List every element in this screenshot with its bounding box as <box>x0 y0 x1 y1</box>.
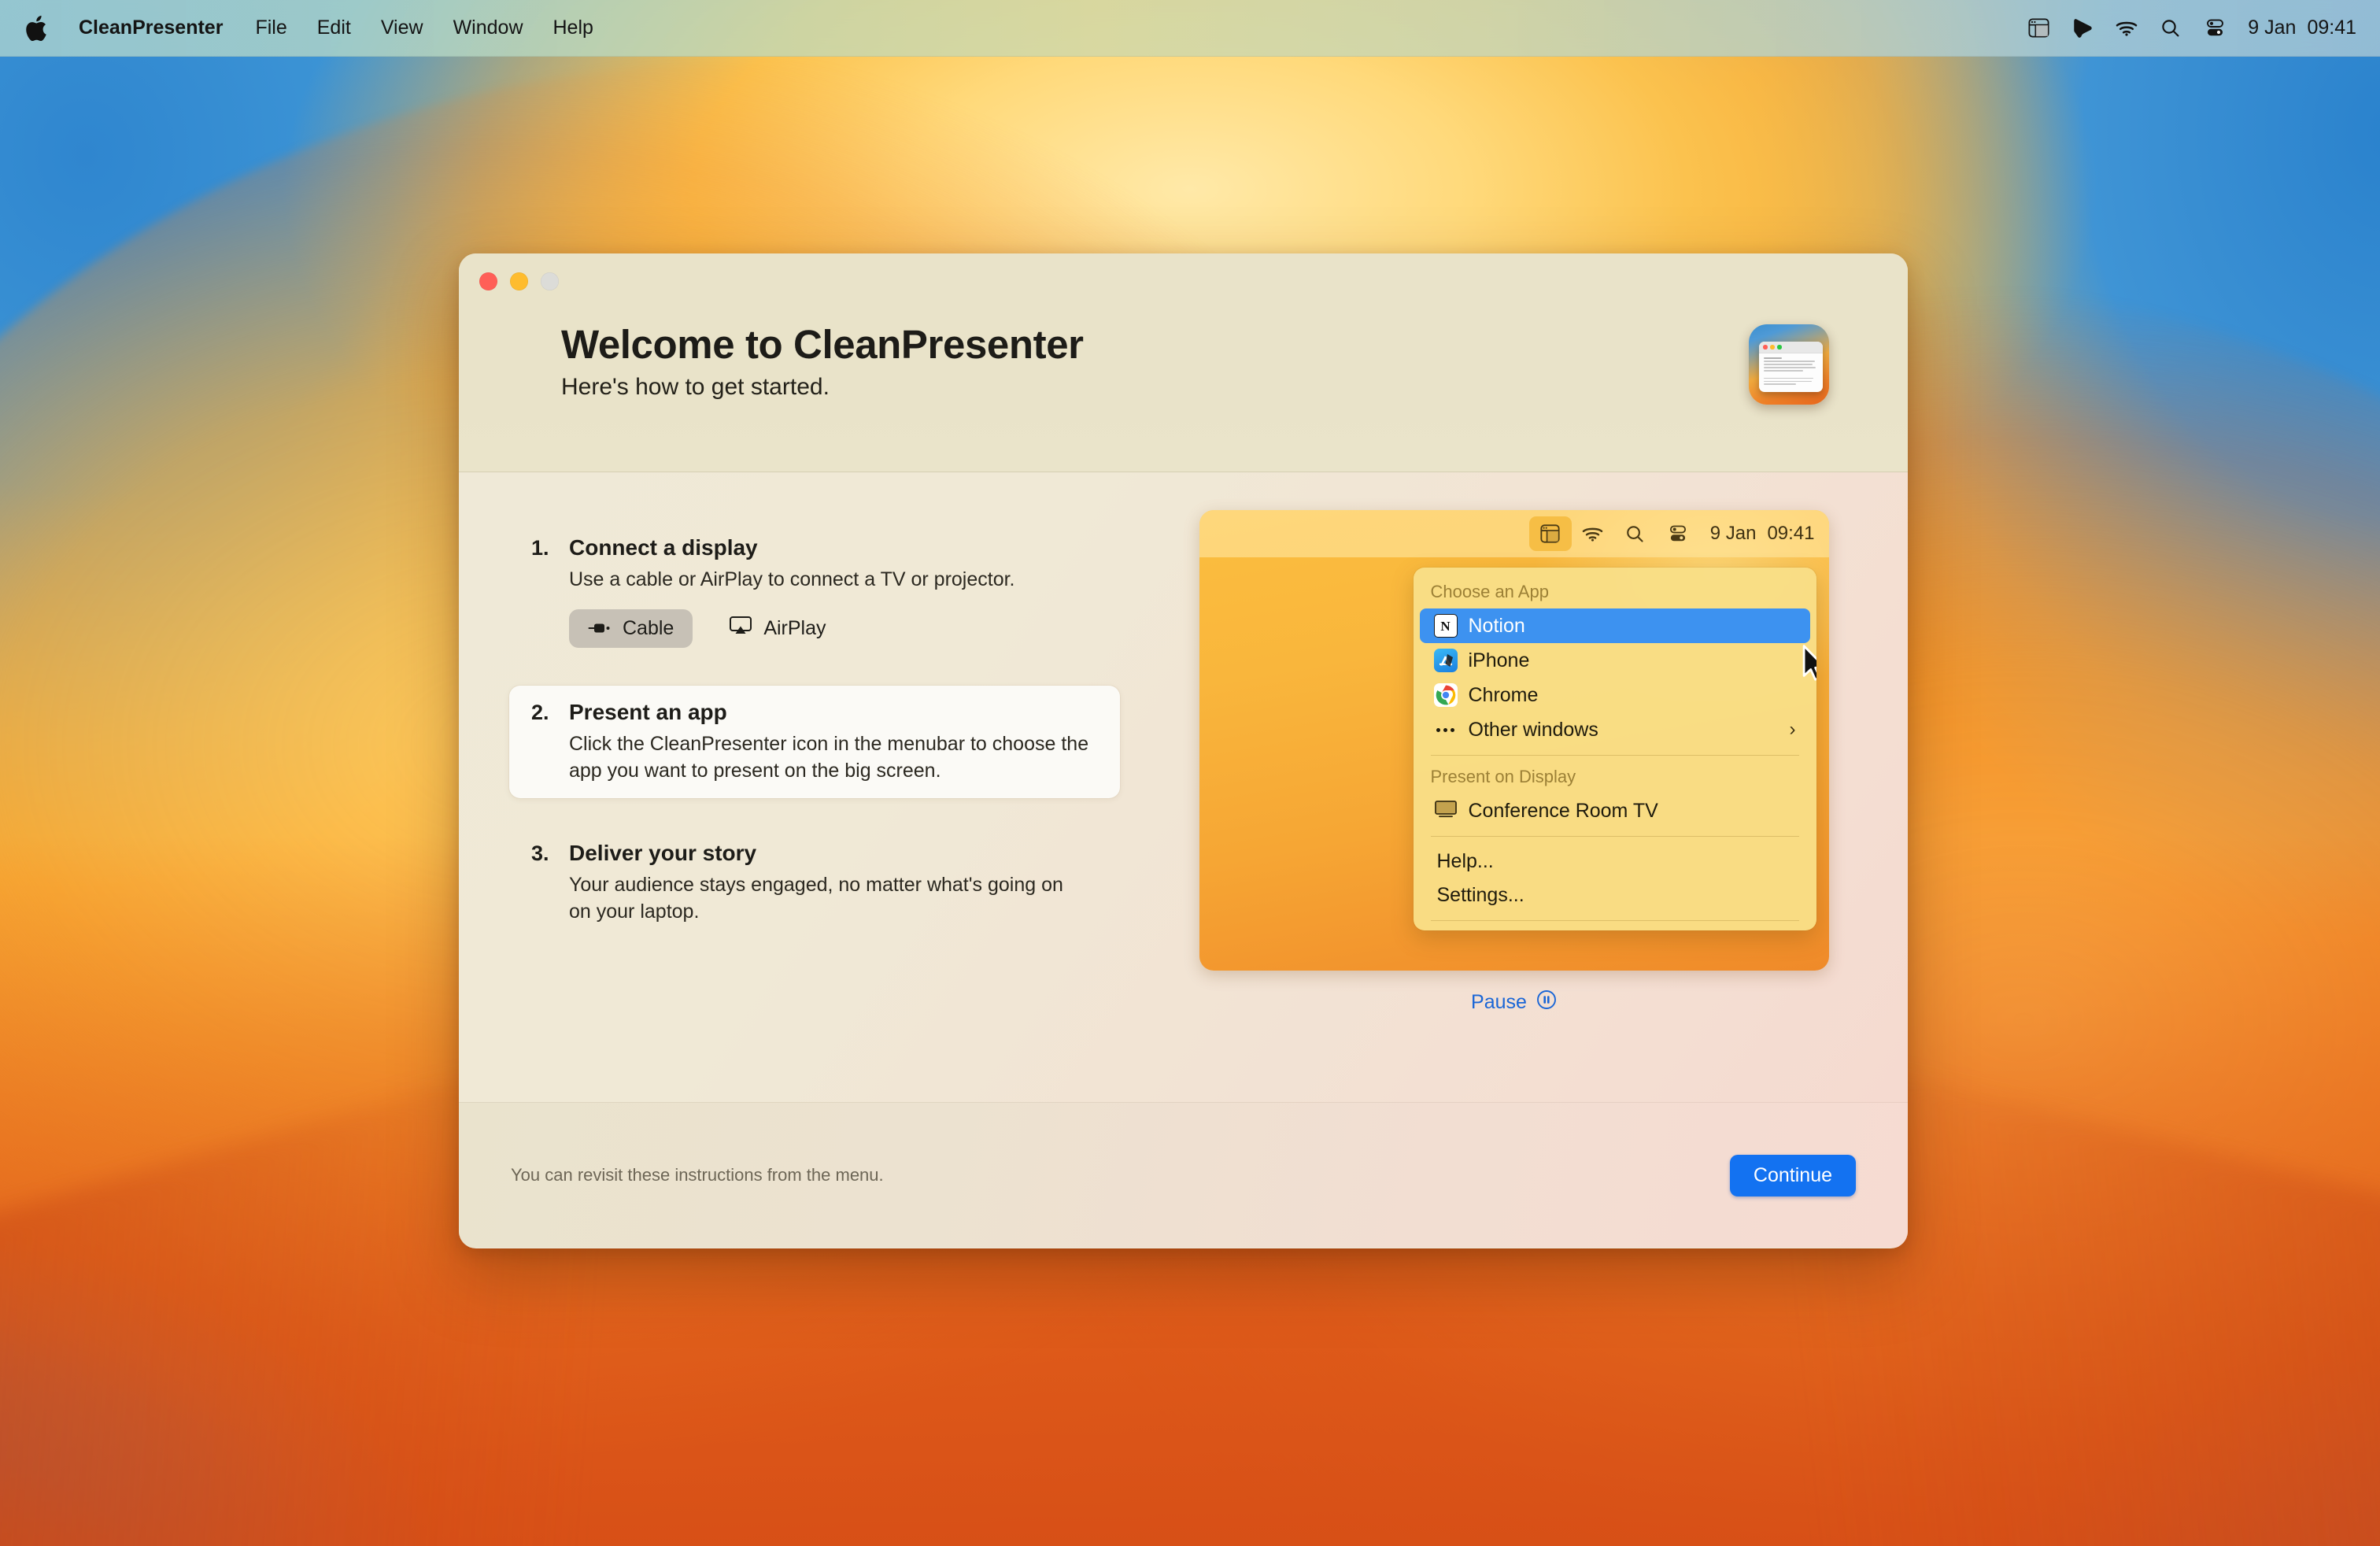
window-body: 1. Connect a display Use a cable or AirP… <box>459 472 1908 1102</box>
pause-button[interactable]: Pause <box>1471 989 1557 1015</box>
menu-item-conference-room-tv-label: Conference Room TV <box>1469 800 1658 823</box>
step-1-number: 1. <box>531 536 558 560</box>
demo-time: 09:41 <box>1767 523 1814 545</box>
menu-item-help[interactable]: Help... <box>1420 845 1810 878</box>
menu-bar-left: CleanPresenter File Edit View Window Hel… <box>0 13 608 43</box>
menu-edit[interactable]: Edit <box>302 13 366 43</box>
menu-bar: CleanPresenter File Edit View Window Hel… <box>0 0 2380 57</box>
chrome-icon <box>1434 683 1458 707</box>
menu-window[interactable]: Window <box>438 13 538 43</box>
step-3-title: Deliver your story <box>569 841 756 866</box>
minimize-button[interactable] <box>510 272 528 290</box>
window-header: Welcome to CleanPresenter Here's how to … <box>459 253 1908 472</box>
window-footer: You can revisit these instructions from … <box>459 1102 1908 1248</box>
menu-item-iphone-label: iPhone <box>1469 649 1530 672</box>
cleanpresenter-app-icon <box>1749 324 1829 405</box>
menu-bar-time: 09:41 <box>2307 17 2356 39</box>
menu-item-settings[interactable]: Settings... <box>1420 878 1810 912</box>
menu-bar-clock[interactable]: 9 Jan 09:41 <box>2248 17 2356 39</box>
menu-help[interactable]: Help <box>538 13 608 43</box>
cable-option[interactable]: Cable <box>569 609 693 648</box>
step-2-description: Click the CleanPresenter icon in the men… <box>569 731 1101 785</box>
pause-label: Pause <box>1471 991 1527 1014</box>
screen: CleanPresenter File Edit View Window Hel… <box>0 0 2380 1546</box>
welcome-window: Welcome to CleanPresenter Here's how to … <box>459 253 1908 1248</box>
wifi-icon[interactable] <box>2105 11 2149 46</box>
demo-animation-panel: 9 Jan 09:41 Choose an App N Notion <box>1199 510 1829 971</box>
demo-menu-bar: 9 Jan 09:41 <box>1199 510 1829 557</box>
step-2-title: Present an app <box>569 700 727 725</box>
airplay-icon <box>729 616 752 642</box>
demo-panel-wrapper: 9 Jan 09:41 Choose an App N Notion <box>1120 472 1908 1102</box>
presenter-window-icon[interactable] <box>2016 11 2060 46</box>
menu-item-notion[interactable]: N Notion <box>1420 608 1810 643</box>
menu-section-choose-an-app: Choose an App <box>1414 579 1816 608</box>
display-mode-segmented-control: Cable AirPlay <box>569 608 1101 649</box>
airplay-option-label: AirPlay <box>763 617 826 640</box>
tv-display-icon <box>1434 799 1458 823</box>
menu-item-chrome[interactable]: Chrome <box>1420 678 1810 712</box>
menu-item-other-windows-label: Other windows <box>1469 719 1598 742</box>
menu-file[interactable]: File <box>240 13 301 43</box>
continue-button[interactable]: Continue <box>1730 1155 1856 1196</box>
menu-bar-date: 9 Jan <box>2248 17 2296 39</box>
cable-plug-icon <box>588 617 612 640</box>
notion-icon: N <box>1434 614 1458 638</box>
control-center-icon[interactable] <box>2193 11 2237 46</box>
menu-separator-2 <box>1431 836 1799 837</box>
cable-option-label: Cable <box>623 617 674 640</box>
menu-app-name[interactable]: CleanPresenter <box>72 13 240 43</box>
zoom-button[interactable] <box>541 272 559 290</box>
demo-control-center-icon[interactable] <box>1657 516 1699 551</box>
step-3-deliver-your-story: 3. Deliver your story Your audience stay… <box>509 827 1120 940</box>
close-button[interactable] <box>479 272 497 290</box>
demo-clock: 9 Jan 09:41 <box>1710 523 1815 545</box>
demo-wifi-icon[interactable] <box>1572 516 1614 551</box>
header-text: Welcome to CleanPresenter Here's how to … <box>561 321 1084 401</box>
step-1-title: Connect a display <box>569 535 758 560</box>
apple-logo-icon[interactable] <box>24 13 72 43</box>
page-subtitle: Here's how to get started. <box>561 374 1084 401</box>
page-title: Welcome to CleanPresenter <box>561 321 1084 368</box>
footer-note: You can revisit these instructions from … <box>511 1165 884 1185</box>
step-2-number: 2. <box>531 701 558 725</box>
menu-item-other-windows[interactable]: Other windows › <box>1420 712 1810 747</box>
chevron-right-icon: › <box>1790 720 1796 739</box>
menu-item-help-label: Help... <box>1437 850 1494 873</box>
menu-section-present-on-display: Present on Display <box>1414 764 1816 793</box>
steps-list: 1. Connect a display Use a cable or AirP… <box>459 472 1120 1102</box>
demo-date: 9 Jan <box>1710 523 1757 545</box>
traffic-lights <box>479 272 559 290</box>
screen-mirroring-icon[interactable] <box>2060 11 2105 46</box>
menu-item-chrome-label: Chrome <box>1469 684 1539 707</box>
menu-item-conference-room-tv[interactable]: Conference Room TV <box>1420 793 1810 828</box>
demo-search-icon[interactable] <box>1614 516 1657 551</box>
step-3-description: Your audience stays engaged, no matter w… <box>569 872 1073 926</box>
search-icon[interactable] <box>2149 11 2193 46</box>
airplay-option[interactable]: AirPlay <box>710 608 844 649</box>
step-3-number: 3. <box>531 841 558 866</box>
step-1-description: Use a cable or AirPlay to connect a TV o… <box>569 567 1101 594</box>
menu-separator-3 <box>1431 920 1799 921</box>
mouse-cursor <box>1802 645 1816 682</box>
menu-bar-status: 9 Jan 09:41 <box>2016 11 2380 46</box>
step-2-present-an-app: 2. Present an app Click the CleanPresent… <box>509 686 1120 799</box>
menu-view[interactable]: View <box>366 13 438 43</box>
menu-item-iphone[interactable]: iPhone <box>1420 643 1810 678</box>
demo-dropdown-menu: Choose an App N Notion <box>1414 568 1816 930</box>
menu-separator-1 <box>1431 755 1799 756</box>
step-1-connect-a-display: 1. Connect a display Use a cable or AirP… <box>509 521 1120 664</box>
demo-presenter-window-icon[interactable] <box>1529 516 1572 551</box>
ellipsis-icon <box>1434 718 1458 742</box>
menu-item-settings-label: Settings... <box>1437 884 1524 907</box>
pause-circle-icon <box>1536 989 1557 1015</box>
iphone-icon <box>1434 649 1458 672</box>
menu-item-notion-label: Notion <box>1469 615 1525 638</box>
